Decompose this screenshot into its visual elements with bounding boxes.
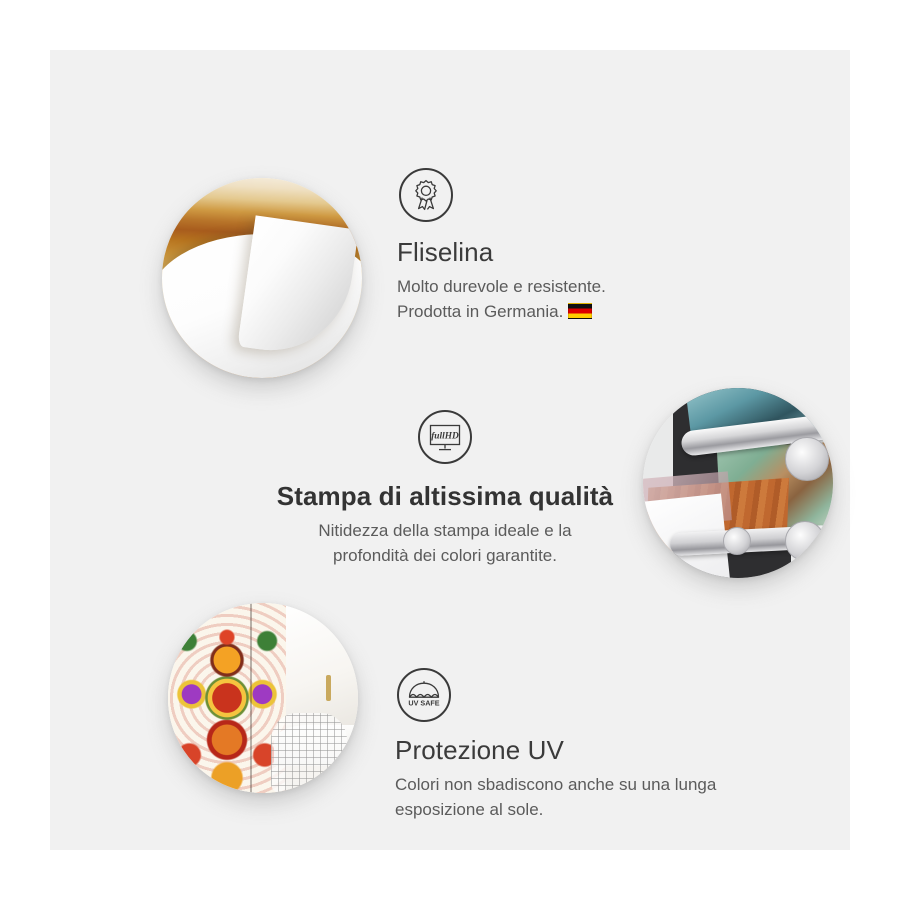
fullhd-monitor-icon: fullHD [418, 410, 472, 464]
feature-body: Colori non sbadiscono anche su una lunga… [395, 772, 795, 823]
feature-fliselina: Fliselina Molto durevole e resistente. P… [397, 168, 727, 325]
award-ribbon-icon [399, 168, 453, 222]
feature-title: Stampa di altissima qualità [275, 482, 615, 512]
feature-body-line: esposizione al sole. [395, 797, 795, 823]
product-features-page: Fliselina Molto durevole e resistente. P… [0, 0, 900, 900]
feature-body-line: Nitidezza della stampa ideale e la [275, 518, 615, 544]
feature-title: Protezione UV [395, 736, 795, 766]
feature-body-line: profondità dei colori garantite. [275, 543, 615, 569]
germany-flag-icon [568, 303, 592, 319]
fullhd-label: fullHD [431, 431, 459, 441]
feature-uv-protection: UV SAFE Protezione UV Colori non sbadisc… [395, 668, 795, 823]
wallpaper-peel-photo [162, 178, 362, 378]
wire-chair [271, 713, 347, 793]
feature-print-quality: fullHD Stampa di altissima qualità Nitid… [275, 410, 615, 569]
feature-body-line: Colori non sbadiscono anche su una lunga [395, 772, 795, 798]
feature-body-line: Molto durevole e resistente. [397, 274, 727, 300]
candle-holder [326, 675, 331, 701]
wallpaper-seam [250, 603, 252, 793]
feature-body: Nitidezza della stampa ideale e la profo… [275, 518, 615, 569]
feature-body: Molto durevole e resistente. Prodotta in… [397, 274, 727, 325]
feature-body-text: Prodotta in Germania. [397, 302, 563, 321]
window-light [282, 603, 358, 728]
uv-safe-umbrella-icon: UV SAFE [397, 668, 451, 722]
mandala-wallpaper-room-photo [168, 603, 358, 793]
content-panel: Fliselina Molto durevole e resistente. P… [50, 50, 850, 850]
uv-safe-label: UV SAFE [408, 699, 439, 708]
feature-title: Fliselina [397, 238, 727, 268]
feature-body-line: Prodotta in Germania. [397, 299, 727, 325]
printing-machine-photo [643, 388, 833, 578]
mandala-wallpaper-wall [168, 603, 286, 793]
